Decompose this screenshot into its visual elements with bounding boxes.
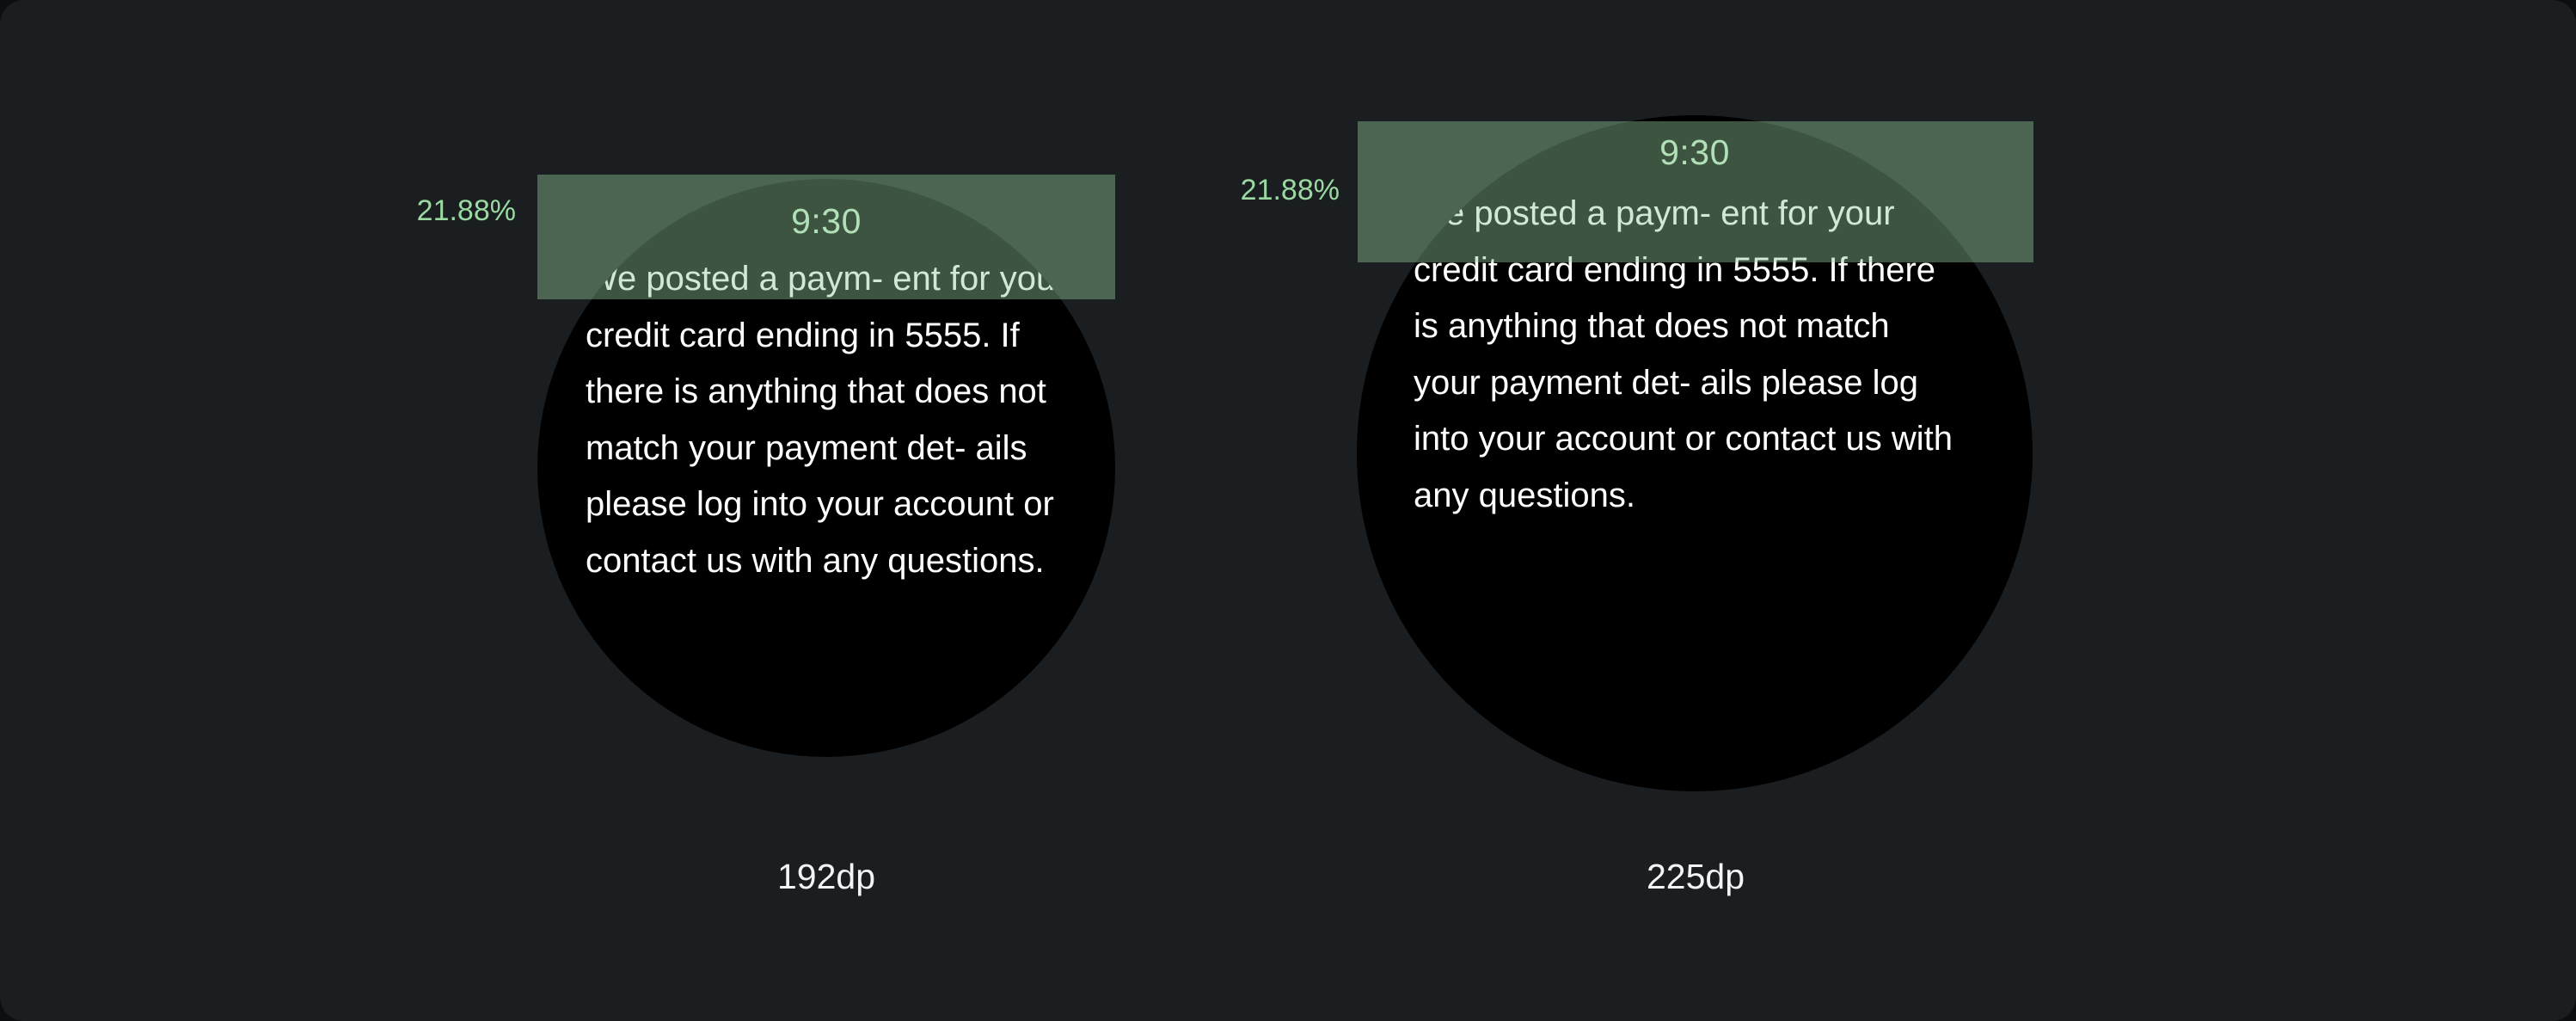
comparison-canvas: 9:30 We posted a paym- ent for your cred… [0,0,2576,1021]
watch-screen-content: 9:30 We posted a paym- ent for your cred… [1357,115,2033,791]
watch-time-label: 9:30 [1357,132,2033,173]
coverage-percentage-label: 21.88% [327,194,516,228]
coverage-percentage-label: 21.88% [1150,174,1340,207]
notification-body-text: We posted a paym- ent for your credit ca… [586,251,1067,590]
notification-body-text: We posted a paym- ent for your credit ca… [1414,186,1964,525]
device-size-caption: 192dp [543,857,1110,897]
device-specimen-225dp: 9:30 We posted a paym- ent for your cred… [1288,0,2576,1021]
watch-face-screen-225dp[interactable]: 9:30 We posted a paym- ent for your cred… [1357,115,2033,791]
watch-time-label: 9:30 [537,201,1115,242]
device-size-caption: 225dp [1412,857,1979,897]
watch-screen-content: 9:30 We posted a paym- ent for your cred… [537,179,1115,757]
watch-face-screen-192dp[interactable]: 9:30 We posted a paym- ent for your cred… [537,179,1115,757]
device-specimen-192dp: 9:30 We posted a paym- ent for your cred… [0,0,1288,1021]
